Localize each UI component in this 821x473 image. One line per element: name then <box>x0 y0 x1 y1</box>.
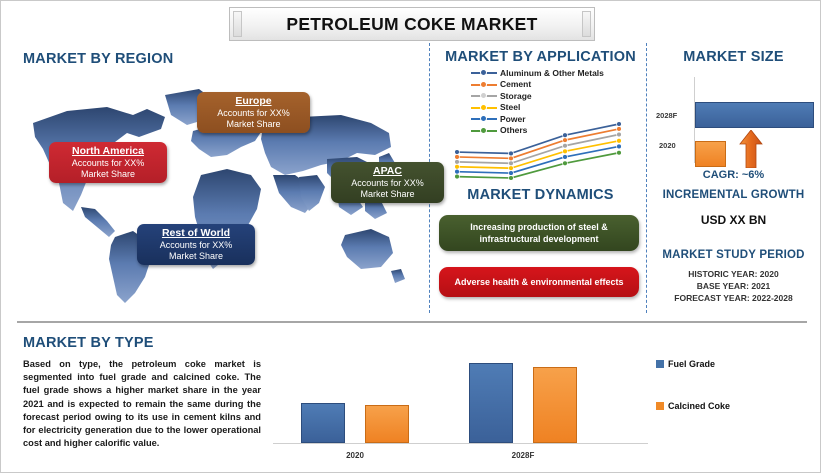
bar-2028f-fuel-grade <box>469 363 513 443</box>
bar-2020-calcined-coke <box>365 405 409 443</box>
bar-chart-xlabel-2028f: 2028F <box>469 451 577 460</box>
market-size-bar-2028f <box>695 102 814 128</box>
divider-vertical-right <box>646 43 647 313</box>
market-restraint-box[interactable]: Adverse health & environmental effects <box>439 267 639 297</box>
forecast-year: FORECAST YEAR: 2022-2028 <box>651 293 816 303</box>
heading-market-by-application: MARKET BY APPLICATION <box>433 49 648 65</box>
callout-title: Rest of World <box>143 227 249 240</box>
divider-horizontal <box>17 321 807 323</box>
legend-item: Steel <box>471 102 604 114</box>
legend-marker-line-icon <box>471 90 497 101</box>
callout-line2: Market Share <box>337 189 438 200</box>
heading-incremental-growth: INCREMENTAL GROWTH <box>651 189 816 201</box>
cagr-value: CAGR: ~6% <box>651 169 816 181</box>
callout-line1: Accounts for XX% <box>143 240 249 251</box>
infographic-page: PETROLEUM COKE MARKET MARKET BY REGION <box>0 0 821 473</box>
market-by-type-chart: 2020 2028F <box>273 346 648 461</box>
legend-item: Storage <box>471 90 604 102</box>
callout-europe[interactable]: Europe Accounts for XX% Market Share <box>197 92 310 133</box>
heading-market-by-type: MARKET BY TYPE <box>23 335 154 351</box>
callout-line2: Market Share <box>143 251 249 262</box>
legend-label: Storage <box>500 91 532 101</box>
market-driver-box[interactable]: Increasing production of steel & infrast… <box>439 215 639 251</box>
callout-rest-of-world[interactable]: Rest of World Accounts for XX% Market Sh… <box>137 224 255 265</box>
legend-item: Cement <box>471 79 604 91</box>
title-banner: PETROLEUM COKE MARKET <box>229 7 595 41</box>
market-by-type-description: Based on type, the petroleum coke market… <box>23 358 261 450</box>
heading-market-study-period: MARKET STUDY PERIOD <box>651 249 816 261</box>
incremental-growth-value: USD XX BN <box>651 213 816 227</box>
callout-line2: Market Share <box>55 169 161 180</box>
market-size-label-2028f: 2028F <box>656 111 677 120</box>
base-year: BASE YEAR: 2021 <box>651 281 816 291</box>
type-legend-item-fuel-grade: Fuel Grade <box>656 359 715 369</box>
legend-marker-line-icon <box>471 102 497 113</box>
callout-title: APAC <box>337 165 438 178</box>
bar-chart-xlabel-2020: 2020 <box>301 451 409 460</box>
callout-title: Europe <box>203 95 304 108</box>
market-size-bar-2020 <box>695 141 726 167</box>
legend-label: Aluminum & Other Metals <box>500 68 604 78</box>
callout-line1: Accounts for XX% <box>337 178 438 189</box>
heading-market-by-region: MARKET BY REGION <box>23 51 173 67</box>
market-by-application-chart <box>453 121 623 181</box>
heading-market-dynamics: MARKET DYNAMICS <box>433 187 648 203</box>
legend-swatch-icon <box>656 360 664 368</box>
callout-line2: Market Share <box>203 119 304 130</box>
legend-marker-line-icon <box>471 79 497 90</box>
callout-line1: Accounts for XX% <box>55 158 161 169</box>
heading-market-size: MARKET SIZE <box>651 49 816 65</box>
legend-label: Steel <box>500 102 520 112</box>
legend-label: Calcined Coke <box>668 401 730 411</box>
legend-marker-line-icon <box>471 67 497 78</box>
legend-label: Fuel Grade <box>668 359 715 369</box>
callout-apac[interactable]: APAC Accounts for XX% Market Share <box>331 162 444 203</box>
market-size-label-2020: 2020 <box>659 141 676 150</box>
legend-swatch-icon <box>656 402 664 410</box>
legend-label: Cement <box>500 79 531 89</box>
bar-2020-fuel-grade <box>301 403 345 443</box>
legend-item: Aluminum & Other Metals <box>471 67 604 79</box>
page-title: PETROLEUM COKE MARKET <box>229 7 595 41</box>
callout-title: North America <box>55 145 161 158</box>
bar-2028f-calcined-coke <box>533 367 577 443</box>
growth-arrow-up-icon <box>739 130 763 168</box>
historic-year: HISTORIC YEAR: 2020 <box>651 269 816 279</box>
callout-north-america[interactable]: North America Accounts for XX% Market Sh… <box>49 142 167 183</box>
bar-chart-baseline <box>273 443 648 444</box>
callout-line1: Accounts for XX% <box>203 108 304 119</box>
type-legend-item-calcined-coke: Calcined Coke <box>656 401 730 411</box>
